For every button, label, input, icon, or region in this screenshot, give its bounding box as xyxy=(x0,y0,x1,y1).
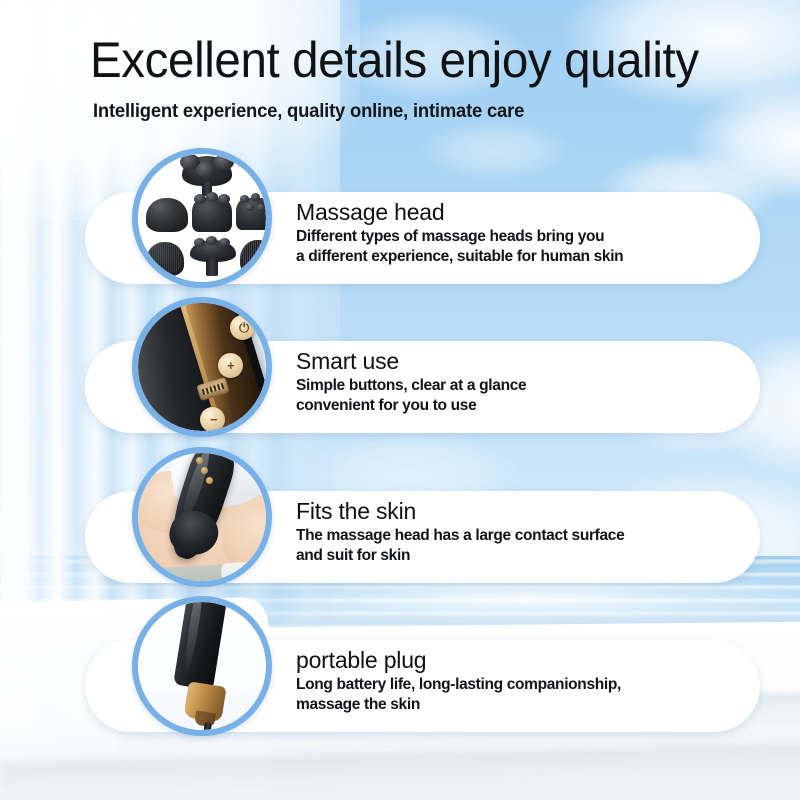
feature-description-line1: Long battery life, long-lasting companio… xyxy=(296,675,723,695)
feature-description-line1: Different types of massage heads bring y… xyxy=(296,227,723,247)
plug-cable-image xyxy=(138,602,266,730)
feature-description: Simple buttons, clear at a glance conven… xyxy=(296,376,723,416)
product-feature-poster: Excellent details enjoy quality Intellig… xyxy=(0,0,800,800)
feature-description: Long battery life, long-lasting companio… xyxy=(296,675,723,715)
feature-description-line2: convenient for you to use xyxy=(296,396,723,416)
feature-title: Fits the skin xyxy=(296,496,736,526)
feature-thumbnail-circle[interactable] xyxy=(132,148,272,288)
feature-description: Different types of massage heads bring y… xyxy=(296,227,723,267)
massage-heads-image xyxy=(138,154,266,282)
feature-thumbnail-circle[interactable] xyxy=(132,596,272,736)
feature-description-line2: and suit for skin xyxy=(296,546,723,566)
feature-description-line1: The massage head has a large contact sur… xyxy=(296,526,723,546)
feature-description-line2: massage the skin xyxy=(296,695,723,715)
feature-description: The massage head has a large contact sur… xyxy=(296,526,723,566)
feature-thumbnail-circle[interactable] xyxy=(132,447,272,587)
page-subtitle: Intelligent experience, quality online, … xyxy=(93,99,524,124)
feature-thumbnail-circle[interactable]: ⏻ + − xyxy=(132,297,272,437)
feature-row-portable-plug: portable plug Long battery life, long-la… xyxy=(0,596,800,738)
feature-row-fits-the-skin: Fits the skin The massage head has a lar… xyxy=(0,447,800,589)
feature-text-block: Massage head Different types of massage … xyxy=(296,197,736,267)
feature-title: Massage head xyxy=(296,197,736,227)
feature-text-block: portable plug Long battery life, long-la… xyxy=(296,645,736,715)
feature-text-block: Smart use Simple buttons, clear at a gla… xyxy=(296,346,736,416)
feature-row-smart-use: Smart use Simple buttons, clear at a gla… xyxy=(0,297,800,439)
feature-text-block: Fits the skin The massage head has a lar… xyxy=(296,496,736,566)
page-title: Excellent details enjoy quality xyxy=(90,31,699,89)
feature-title: portable plug xyxy=(296,645,736,675)
feature-row-massage-head: Massage head Different types of massage … xyxy=(0,148,800,290)
massager-on-back-image xyxy=(138,453,266,581)
feature-description-line1: Simple buttons, clear at a glance xyxy=(296,376,723,396)
feature-description-line2: a different experience, suitable for hum… xyxy=(296,247,723,267)
feature-title: Smart use xyxy=(296,346,736,376)
device-buttons-image: ⏻ + − xyxy=(138,303,266,431)
